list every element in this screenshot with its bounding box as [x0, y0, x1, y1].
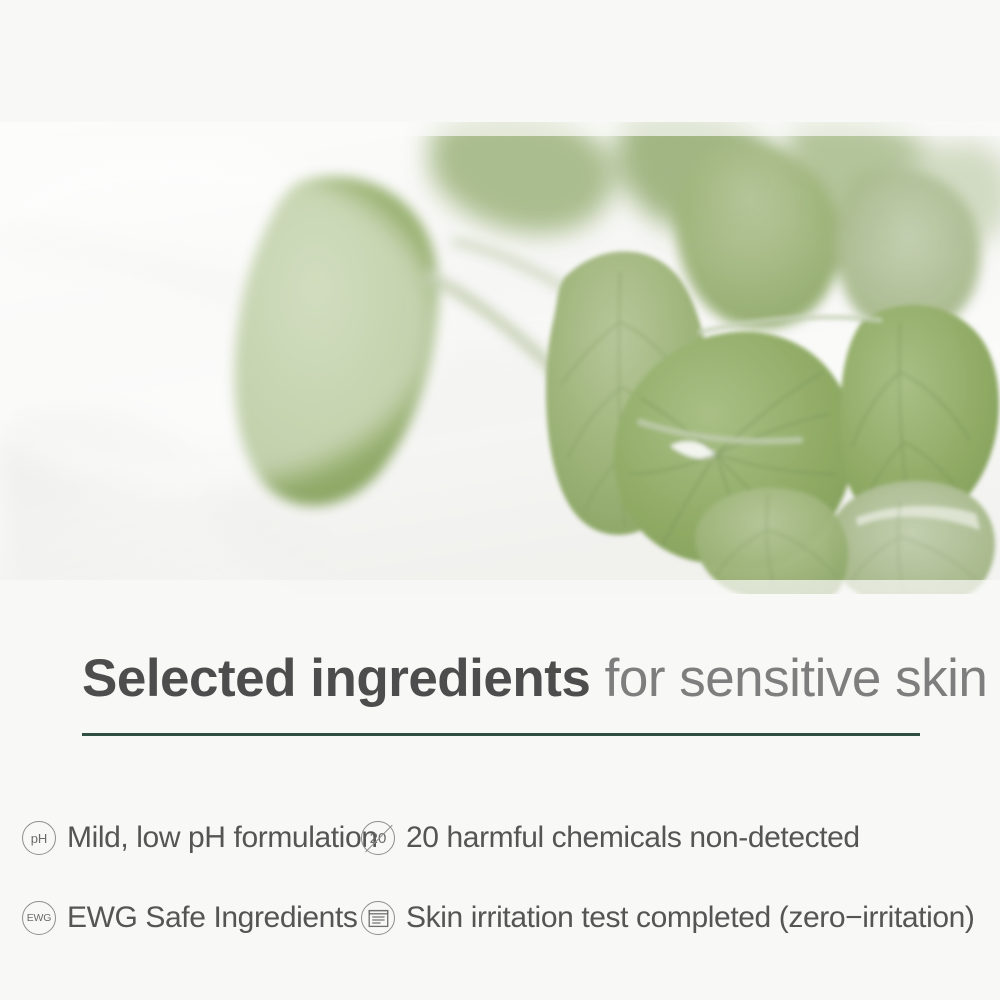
centella-leaves-photo [0, 122, 1000, 594]
page-title: Selected ingredients for sensitive skin [0, 648, 1000, 710]
twenty-chemicals-struck-badge-icon: 20 [361, 821, 395, 855]
page-title-strong: Selected ingredients [82, 649, 590, 708]
ewg-badge-label: EWG [27, 913, 51, 924]
feature-item-chemicals: 20 20 harmful chemicals non-detected [361, 821, 860, 855]
product-detail-page: Selected ingredients for sensitive skin … [0, 0, 1000, 1000]
hero-image-band [0, 122, 1000, 594]
feature-row-2: EWG EWG Safe Ingredients [0, 878, 1000, 958]
heading-divider [82, 733, 920, 736]
feature-label-ewg: EWG Safe Ingredients [67, 901, 357, 935]
feature-item-ph: pH Mild, low pH formulation [0, 821, 361, 855]
section-heading-block: Selected ingredients for sensitive skin [0, 648, 1000, 710]
ph-badge-label: pH [31, 832, 48, 845]
feature-item-irritation-test: Skin irritation test completed (zero−irr… [361, 901, 975, 935]
feature-list: pH Mild, low pH formulation 20 20 harmfu… [0, 798, 1000, 958]
feature-label-chemicals: 20 harmful chemicals non-detected [406, 821, 860, 855]
document-icon [368, 909, 389, 928]
feature-label-irritation-test: Skin irritation test completed (zero−irr… [406, 901, 975, 935]
ph-badge-icon: pH [22, 821, 56, 855]
page-title-light: for sensitive skin [605, 649, 988, 708]
feature-row-1: pH Mild, low pH formulation 20 20 harmfu… [0, 798, 1000, 878]
feature-item-ewg: EWG EWG Safe Ingredients [0, 901, 361, 935]
ewg-badge-icon: EWG [22, 901, 56, 935]
document-test-report-badge-icon [361, 901, 395, 935]
feature-label-ph: Mild, low pH formulation [67, 821, 378, 855]
